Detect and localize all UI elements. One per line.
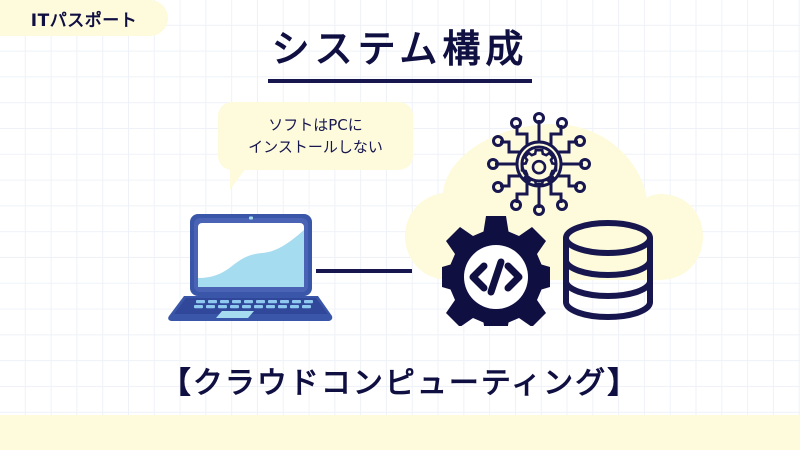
database-icon (558, 218, 658, 322)
speech-bubble-tail (230, 168, 246, 190)
page-title: システム構成 (0, 18, 800, 83)
gear-code-icon (440, 214, 552, 326)
caption: 【クラウドコンピューティング】 (0, 358, 800, 402)
page-title-text: システム構成 (268, 18, 533, 83)
caption-text: 【クラウドコンピューティング】 (161, 366, 639, 401)
slide-canvas: ソフトはPCに インストールしない ITパスポート システム構成 【クラウドコン… (0, 0, 800, 450)
speech-bubble: ソフトはPCに インストールしない (218, 102, 413, 170)
speech-bubble-line-2: インストールしない (248, 138, 383, 157)
circuit-gear-icon (487, 112, 591, 216)
speech-bubble-line-1: ソフトはPCに (268, 116, 363, 135)
bottom-accent-bar (0, 415, 800, 450)
laptop-illustration (160, 212, 338, 324)
